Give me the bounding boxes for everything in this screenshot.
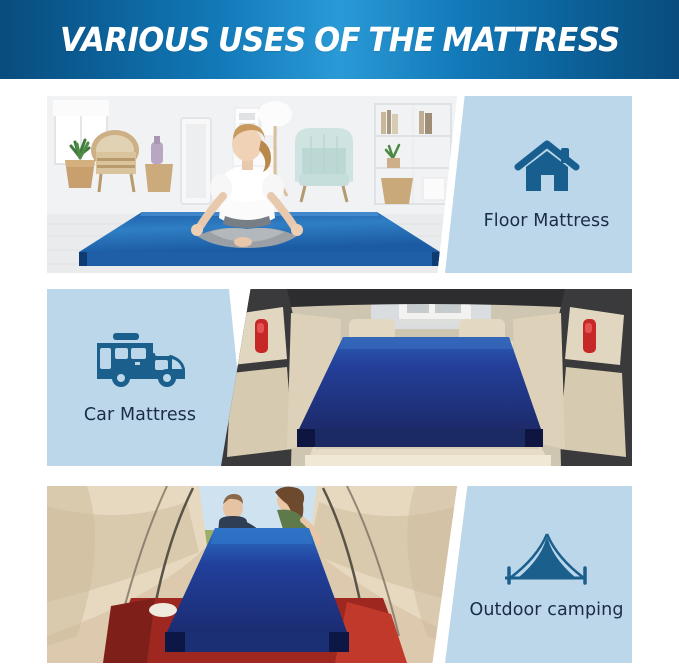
tent-icon bbox=[504, 530, 590, 588]
label-panel-floor-mattress: Floor Mattress bbox=[445, 96, 632, 273]
floor-mattress-illustration bbox=[47, 96, 457, 273]
photo-outdoor-camping bbox=[47, 486, 457, 663]
section-floor-mattress: Floor Mattress bbox=[47, 96, 632, 273]
label-panel-outdoor-camping: Outdoor camping bbox=[445, 486, 632, 663]
label-floor-mattress: Floor Mattress bbox=[484, 211, 610, 231]
label-car-mattress: Car Mattress bbox=[84, 405, 196, 425]
header-banner: VARIOUS USES OF THE MATTRESS bbox=[0, 0, 679, 79]
page-title: VARIOUS USES OF THE MATTRESS bbox=[60, 20, 620, 59]
house-icon-svg bbox=[514, 139, 580, 199]
photo-floor-mattress bbox=[47, 96, 457, 273]
car-mattress-illustration bbox=[221, 289, 632, 466]
label-outdoor-camping: Outdoor camping bbox=[469, 600, 623, 620]
photo-car-mattress bbox=[221, 289, 632, 466]
tent-icon-svg bbox=[504, 530, 590, 588]
section-car-mattress: Car Mattress bbox=[47, 289, 632, 466]
label-panel-car-mattress: Car Mattress bbox=[47, 289, 247, 466]
section-outdoor-camping: Outdoor camping bbox=[47, 486, 632, 663]
rv-camper-icon-svg bbox=[91, 331, 189, 393]
rv-camper-icon bbox=[91, 331, 189, 393]
camping-illustration bbox=[47, 486, 457, 663]
house-icon bbox=[514, 139, 580, 199]
